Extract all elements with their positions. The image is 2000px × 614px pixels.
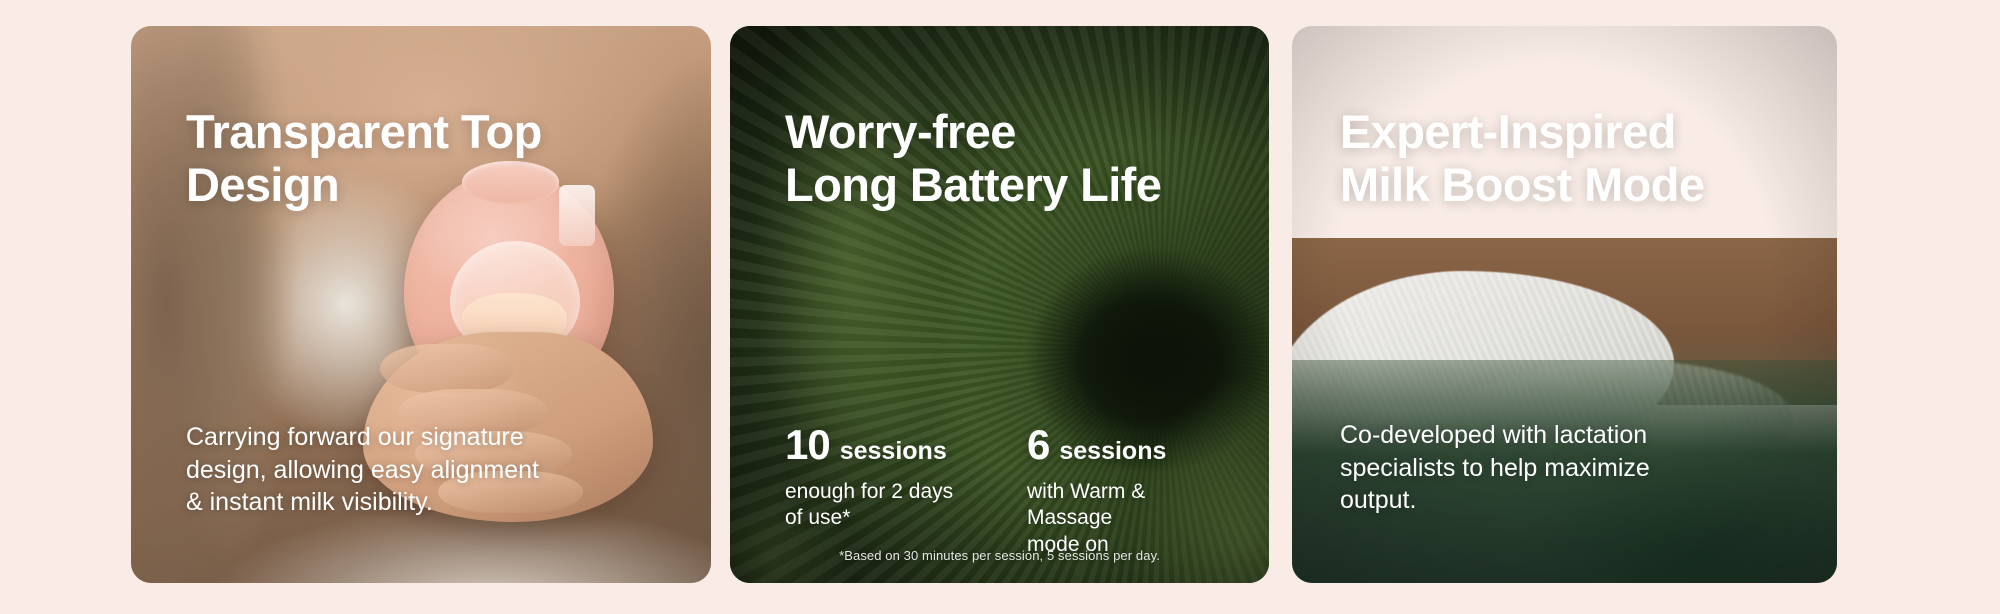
- card-inner: momcozy Transparent Top Design Carrying …: [131, 26, 711, 583]
- stat-unit: sessions: [840, 439, 947, 464]
- stat-unit: sessions: [1059, 439, 1166, 464]
- stat-item: 10 sessions enough for 2 days of use*: [785, 424, 981, 558]
- stat-item: 6 sessions with Warm & Massage mode on: [1027, 424, 1223, 558]
- pump-clip: [559, 185, 595, 246]
- stat-number: 10: [785, 424, 830, 466]
- card-title: Transparent Top Design: [186, 106, 542, 211]
- feature-card-worry-free-long-battery-life[interactable]: Worry-free Long Battery Life 10 sessions…: [730, 26, 1269, 583]
- feature-cards-section: momcozy Transparent Top Design Carrying …: [0, 0, 2000, 614]
- feature-card-expert-inspired-milk-boost-mode[interactable]: Expert-Inspired Milk Boost Mode Co-devel…: [1292, 26, 1837, 583]
- stat-headline: 6 sessions: [1027, 424, 1223, 466]
- card-body-text: Carrying forward our signature design, a…: [186, 421, 539, 519]
- card-footnote: *Based on 30 minutes per session, 5 sess…: [730, 548, 1269, 563]
- card-title: Expert-Inspired Milk Boost Mode: [1340, 106, 1704, 211]
- stat-description: with Warm & Massage mode on: [1027, 479, 1223, 558]
- card-body-text: Co-developed with lactation specialists …: [1340, 419, 1650, 517]
- stat-description: enough for 2 days of use*: [785, 479, 981, 532]
- stat-headline: 10 sessions: [785, 424, 981, 466]
- card-inner: Expert-Inspired Milk Boost Mode Co-devel…: [1292, 26, 1837, 583]
- card-title: Worry-free Long Battery Life: [785, 106, 1161, 211]
- finger-1: [380, 344, 513, 393]
- feature-card-transparent-top-design[interactable]: momcozy Transparent Top Design Carrying …: [131, 26, 711, 583]
- battery-stats-group: 10 sessions enough for 2 days of use* 6 …: [785, 424, 1223, 558]
- card-inner: Worry-free Long Battery Life 10 sessions…: [730, 26, 1269, 583]
- stat-number: 6: [1027, 424, 1049, 466]
